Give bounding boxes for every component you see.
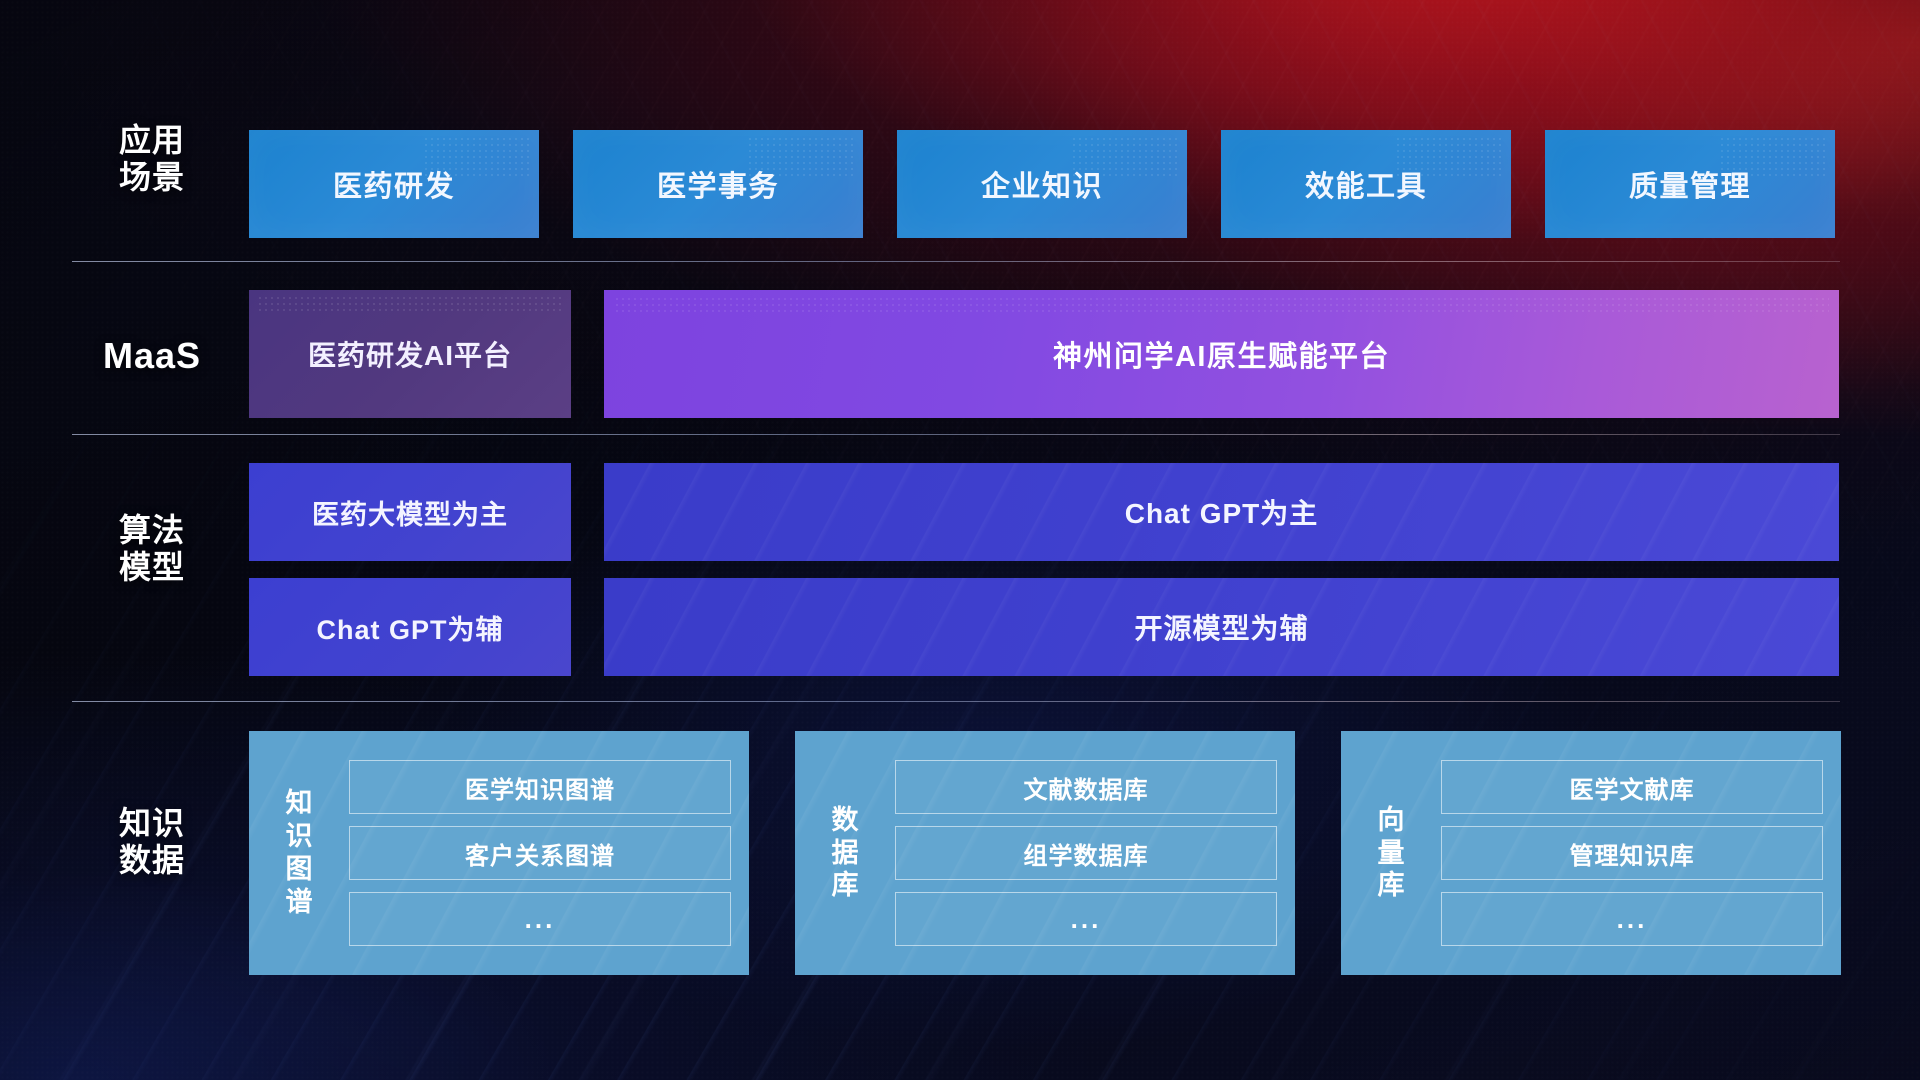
algo-box-label: 开源模型为辅 <box>1134 607 1308 647</box>
algo-box-chatgpt-secondary[interactable]: Chat GPT为辅 <box>249 578 571 676</box>
row-label-line: 知识 <box>78 805 226 842</box>
divider-after-application <box>72 261 1840 262</box>
divider-after-algorithm <box>72 701 1840 702</box>
vertical-label-char: 知 <box>263 787 335 820</box>
vertical-label-char: 图 <box>263 853 335 886</box>
row-label-algorithm-model: 算法 模型 <box>78 512 226 586</box>
algo-box-label: Chat GPT为辅 <box>316 608 503 647</box>
algo-box-label: 医药大模型为主 <box>312 493 508 532</box>
knowledge-item-omics-database[interactable]: 组学数据库 <box>895 826 1277 880</box>
knowledge-group-items: 文献数据库 组学数据库 ... <box>881 760 1277 946</box>
knowledge-item-label: 客户关系图谱 <box>465 836 615 871</box>
knowledge-group-vertical-label: 知 识 图 谱 <box>263 787 335 919</box>
row-label-line: 模型 <box>78 549 226 586</box>
algorithm-model-line-secondary: Chat GPT为辅 开源模型为辅 <box>249 578 1839 676</box>
app-box-quality-management[interactable]: 质量管理 <box>1545 130 1835 238</box>
maas-box-label: 医药研发AI平台 <box>308 334 512 374</box>
vertical-label-char: 量 <box>1355 837 1427 870</box>
divider-after-maas <box>72 434 1840 435</box>
knowledge-group-items: 医学知识图谱 客户关系图谱 ... <box>335 760 731 946</box>
knowledge-group-knowledge-graph[interactable]: 知 识 图 谱 医学知识图谱 客户关系图谱 ... <box>249 731 749 975</box>
row-label-knowledge-data: 知识 数据 <box>78 805 226 879</box>
maas-row: 医药研发AI平台 神州问学AI原生赋能平台 <box>249 290 1839 418</box>
maas-box-shenzhou-wenxue-platform[interactable]: 神州问学AI原生赋能平台 <box>604 290 1839 418</box>
knowledge-item-label: ... <box>1617 904 1648 935</box>
knowledge-data-groups: 知 识 图 谱 医学知识图谱 客户关系图谱 ... <box>249 731 1841 975</box>
algo-box-medicine-large-model-primary[interactable]: 医药大模型为主 <box>249 463 571 561</box>
app-box-enterprise-knowledge[interactable]: 企业知识 <box>897 130 1187 238</box>
vertical-label-char: 谱 <box>263 886 335 919</box>
knowledge-item-medical-literature-store[interactable]: 医学文献库 <box>1441 760 1823 814</box>
knowledge-item-label: 医学知识图谱 <box>465 770 615 805</box>
knowledge-item-label: 医学文献库 <box>1570 770 1695 805</box>
knowledge-item-medical-knowledge-graph[interactable]: 医学知识图谱 <box>349 760 731 814</box>
application-scenario-boxes: 医药研发 医学事务 企业知识 效能工具 质量管理 <box>249 130 1835 238</box>
knowledge-group-vector-store[interactable]: 向 量 库 医学文献库 管理知识库 ... <box>1341 731 1841 975</box>
knowledge-item-label: 组学数据库 <box>1024 836 1149 871</box>
algo-box-opensource-secondary[interactable]: 开源模型为辅 <box>604 578 1839 676</box>
knowledge-group-vertical-label: 数 据 库 <box>809 804 881 903</box>
knowledge-item-more[interactable]: ... <box>349 892 731 946</box>
app-box-medical-affairs[interactable]: 医学事务 <box>573 130 863 238</box>
vertical-label-char: 库 <box>1355 869 1427 902</box>
app-box-medicine-rd[interactable]: 医药研发 <box>249 130 539 238</box>
knowledge-item-label: 文献数据库 <box>1024 770 1149 805</box>
app-box-efficiency-tools[interactable]: 效能工具 <box>1221 130 1511 238</box>
row-label-line: 算法 <box>78 512 226 549</box>
knowledge-item-literature-database[interactable]: 文献数据库 <box>895 760 1277 814</box>
row-label-line: 数据 <box>78 842 226 879</box>
knowledge-item-more[interactable]: ... <box>1441 892 1823 946</box>
row-label-line: 应用 <box>78 122 226 159</box>
algo-box-label: Chat GPT为主 <box>1125 492 1319 532</box>
knowledge-group-vertical-label: 向 量 库 <box>1355 804 1427 903</box>
vertical-label-char: 向 <box>1355 804 1427 837</box>
knowledge-group-database[interactable]: 数 据 库 文献数据库 组学数据库 ... <box>795 731 1295 975</box>
maas-box-label: 神州问学AI原生赋能平台 <box>1053 333 1390 375</box>
knowledge-item-label: 管理知识库 <box>1570 836 1695 871</box>
vertical-label-char: 库 <box>809 869 881 902</box>
algorithm-model-line-primary: 医药大模型为主 Chat GPT为主 <box>249 463 1839 561</box>
knowledge-item-customer-relationship-graph[interactable]: 客户关系图谱 <box>349 826 731 880</box>
algo-box-chatgpt-primary[interactable]: Chat GPT为主 <box>604 463 1839 561</box>
knowledge-item-management-knowledge-store[interactable]: 管理知识库 <box>1441 826 1823 880</box>
algorithm-model-rows: 医药大模型为主 Chat GPT为主 Chat GPT为辅 开源模型为辅 <box>249 463 1839 676</box>
row-label-application-scenarios: 应用 场景 <box>78 122 226 196</box>
vertical-label-char: 据 <box>809 837 881 870</box>
knowledge-item-label: ... <box>1071 904 1102 935</box>
diagram-canvas: 应用 场景 医药研发 医学事务 企业知识 效能工具 质量管理 MaaS <box>0 0 1920 1080</box>
row-label-line: MaaS <box>78 335 226 377</box>
app-box-label: 质量管理 <box>1629 163 1751 205</box>
vertical-label-char: 数 <box>809 804 881 837</box>
knowledge-item-more[interactable]: ... <box>895 892 1277 946</box>
app-box-label: 医学事务 <box>657 163 779 205</box>
app-box-label: 效能工具 <box>1305 163 1427 205</box>
row-label-line: 场景 <box>78 159 226 196</box>
app-box-label: 医药研发 <box>333 163 455 205</box>
app-box-label: 企业知识 <box>981 163 1103 205</box>
knowledge-item-label: ... <box>525 904 556 935</box>
maas-box-medicine-ai-platform[interactable]: 医药研发AI平台 <box>249 290 571 418</box>
knowledge-group-items: 医学文献库 管理知识库 ... <box>1427 760 1823 946</box>
diagram-content: 应用 场景 医药研发 医学事务 企业知识 效能工具 质量管理 MaaS <box>0 0 1920 1080</box>
vertical-label-char: 识 <box>263 820 335 853</box>
row-label-maas: MaaS <box>78 335 226 377</box>
